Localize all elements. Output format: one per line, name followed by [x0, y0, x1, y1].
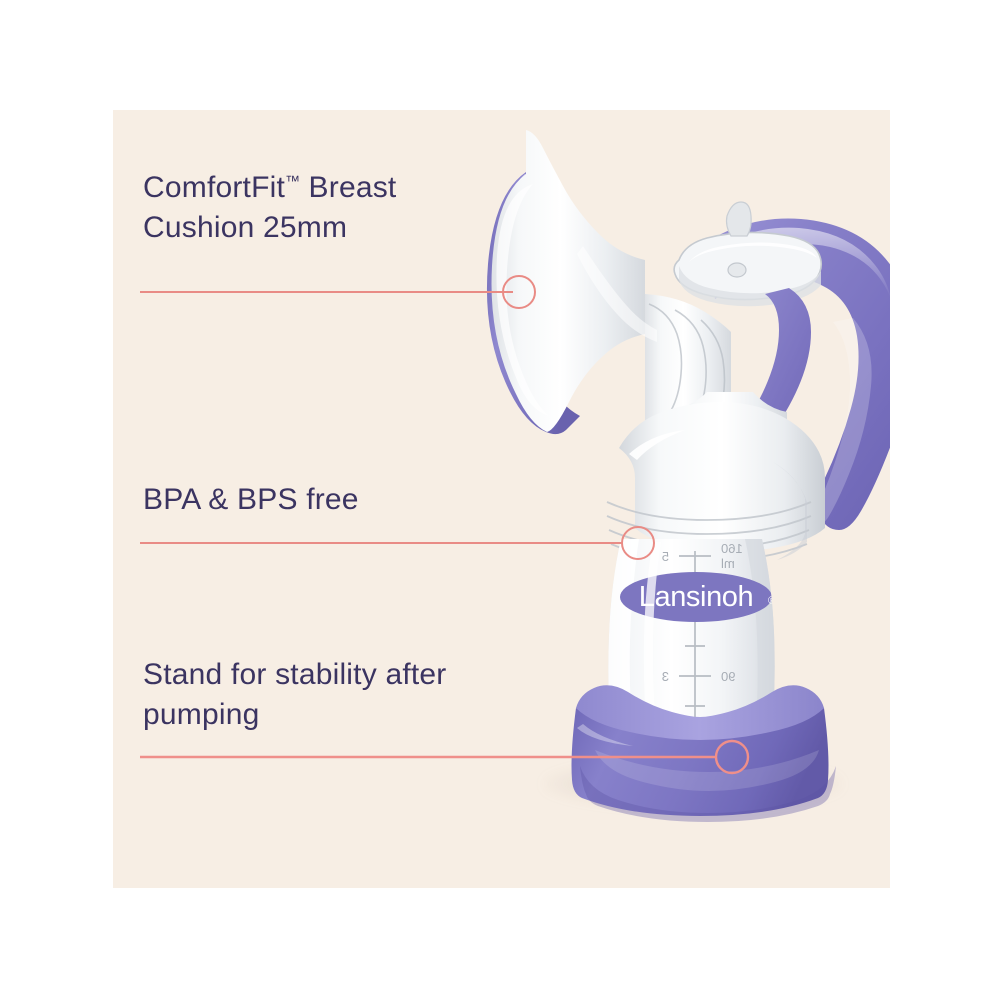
- valve-stem: [727, 202, 752, 236]
- brand-registered-mark: ®: [768, 595, 776, 607]
- svg-text:3: 3: [662, 669, 669, 684]
- callout-comfortfit-cushion-text: ComfortFit™ Breast Cushion 25mm: [143, 168, 396, 248]
- connector-collar: [607, 392, 825, 561]
- svg-text:90: 90: [721, 669, 735, 684]
- callout-bpa-bps-free: BPA & BPS free: [143, 480, 359, 520]
- screenshot-canvas: 160 ml 5 90 3 60 2 30 Lansinoh: [0, 0, 1000, 1000]
- callout-stand-stability: Stand for stability after pumping: [143, 655, 446, 735]
- svg-text:5: 5: [662, 549, 669, 564]
- callout-bpa-bps-free-text: BPA & BPS free: [143, 480, 359, 520]
- callout-comfortfit-cushion: ComfortFit™ Breast Cushion 25mm: [143, 168, 396, 248]
- diaphragm-cap: [674, 202, 821, 306]
- svg-text:ml: ml: [721, 556, 735, 571]
- svg-text:160: 160: [721, 541, 743, 556]
- product-feature-panel: 160 ml 5 90 3 60 2 30 Lansinoh: [113, 110, 890, 888]
- callout-stand-stability-text: Stand for stability after pumping: [143, 655, 446, 735]
- brand-logo-text: Lansinoh: [639, 581, 754, 613]
